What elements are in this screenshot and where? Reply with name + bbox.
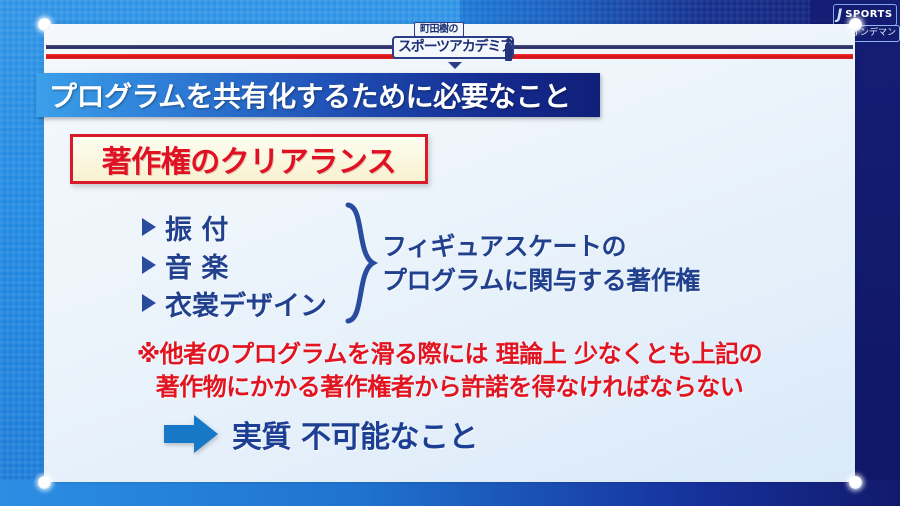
- logo-pointer-triangle: [448, 62, 462, 69]
- list-item: 音 楽: [142, 246, 357, 284]
- conclusion-text: 実質 不可能なこと: [232, 412, 478, 456]
- note-line-1: ※他者のプログラムを滑る際には 理論上 少なくとも上記の: [44, 338, 855, 371]
- page-title: プログラムを共有化するために必要なこと: [49, 75, 571, 115]
- corner-dot-top-right: [849, 18, 862, 31]
- figure-skater-icon: [504, 38, 513, 62]
- show-logo-top-line: 町田樹の: [414, 22, 464, 37]
- headline-text: 著作権のクリアランス: [102, 137, 396, 181]
- page-title-bar: プログラムを共有化するために必要なこと: [36, 73, 600, 117]
- list-item: 振 付: [142, 208, 357, 246]
- background-bottom-strip: [0, 480, 900, 506]
- note-line-2: 著作物にかかる著作権者から許諾を得なければならない: [44, 371, 855, 404]
- arrow-right-icon: [164, 414, 218, 454]
- note-block: ※他者のプログラムを滑る際には 理論上 少なくとも上記の 著作物にかかる著作権者…: [44, 338, 855, 404]
- triangle-right-icon: [142, 294, 156, 312]
- broadcast-slide: J SPORTS オンデマンド 町田樹の スポーツアカデミア プログラムを共有化…: [0, 0, 900, 506]
- jsports-logo: J SPORTS: [833, 4, 897, 26]
- show-logo-main-line: スポーツアカデミア: [392, 36, 514, 59]
- jsports-j-letter: J: [837, 8, 842, 22]
- headline-box: 著作権のクリアランス: [70, 134, 428, 184]
- show-logo: 町田樹の スポーツアカデミア: [392, 22, 524, 68]
- caption-line-2: プログラムに関与する著作権: [382, 264, 782, 298]
- caption-block: フィギュアスケートの プログラムに関与する著作権: [382, 230, 782, 298]
- conclusion-block: 実質 不可能なこと: [164, 412, 478, 456]
- corner-dot-bottom-left: [38, 476, 51, 489]
- corner-dot-bottom-right: [849, 476, 862, 489]
- caption-line-1: フィギュアスケートの: [382, 230, 782, 264]
- list-item: 衣裳デザイン: [142, 284, 357, 322]
- list-item-label: 音 楽: [165, 246, 228, 285]
- curly-brace-right-icon: [344, 202, 378, 324]
- corner-dot-top-left: [38, 18, 51, 31]
- bullet-list: 振 付 音 楽 衣裳デザイン: [142, 208, 357, 322]
- triangle-right-icon: [142, 256, 156, 274]
- triangle-right-icon: [142, 218, 156, 236]
- list-item-label: 振 付: [165, 208, 228, 247]
- list-item-label: 衣裳デザイン: [165, 284, 327, 323]
